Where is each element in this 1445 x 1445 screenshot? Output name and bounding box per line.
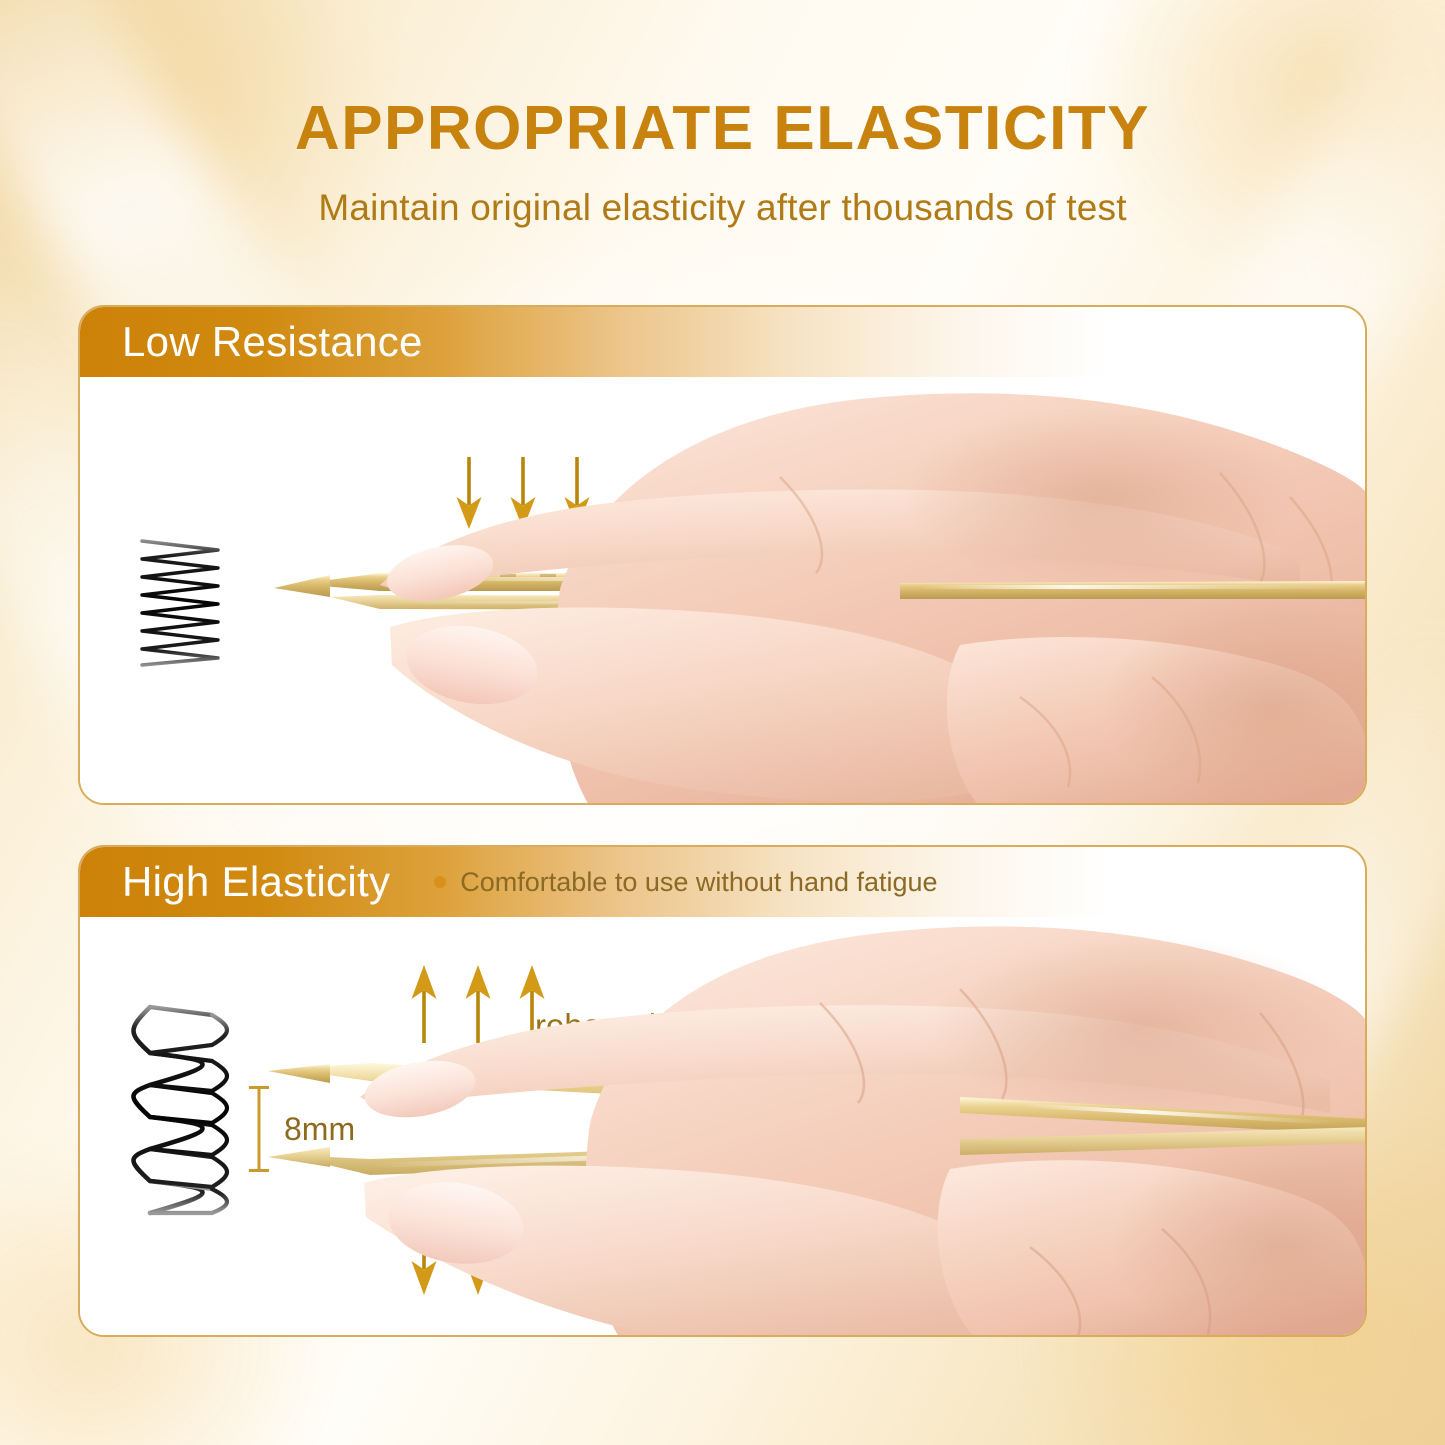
- bullet-dot-icon: [434, 876, 446, 888]
- feature-card-high-elasticity: High Elasticity Comfortable to use witho…: [78, 845, 1367, 1337]
- product-feature-page: APPROPRIATE ELASTICITY Maintain original…: [0, 0, 1445, 1445]
- feature-card-low-resistance: Low Resistance: [78, 305, 1367, 805]
- extended-coil-spring-icon: [120, 999, 240, 1226]
- compressed-coil-spring-icon: [130, 535, 230, 675]
- card-header-low-resistance: Low Resistance: [80, 307, 1365, 377]
- gold-tweezers-grip-overlay: [900, 581, 1367, 599]
- page-subtitle: Maintain original elasticity after thous…: [0, 187, 1445, 229]
- card-note-text: Comfortable to use without hand fatigue: [460, 867, 937, 898]
- card-note-high-elasticity: Comfortable to use without hand fatigue: [434, 867, 937, 898]
- page-heading-block: APPROPRIATE ELASTICITY Maintain original…: [0, 96, 1445, 229]
- page-title: APPROPRIATE ELASTICITY: [0, 96, 1445, 161]
- card-header-high-elasticity: High Elasticity Comfortable to use witho…: [80, 847, 1365, 917]
- card-title-low-resistance: Low Resistance: [122, 318, 423, 366]
- photo-hand-with-closed-tweezers: [260, 377, 1367, 805]
- card-title-high-elasticity: High Elasticity: [122, 858, 390, 906]
- photo-hand-with-open-tweezers: [260, 917, 1367, 1337]
- card-body-low-resistance: [80, 377, 1365, 803]
- card-body-high-elasticity: rebound easily 8mm: [80, 917, 1365, 1335]
